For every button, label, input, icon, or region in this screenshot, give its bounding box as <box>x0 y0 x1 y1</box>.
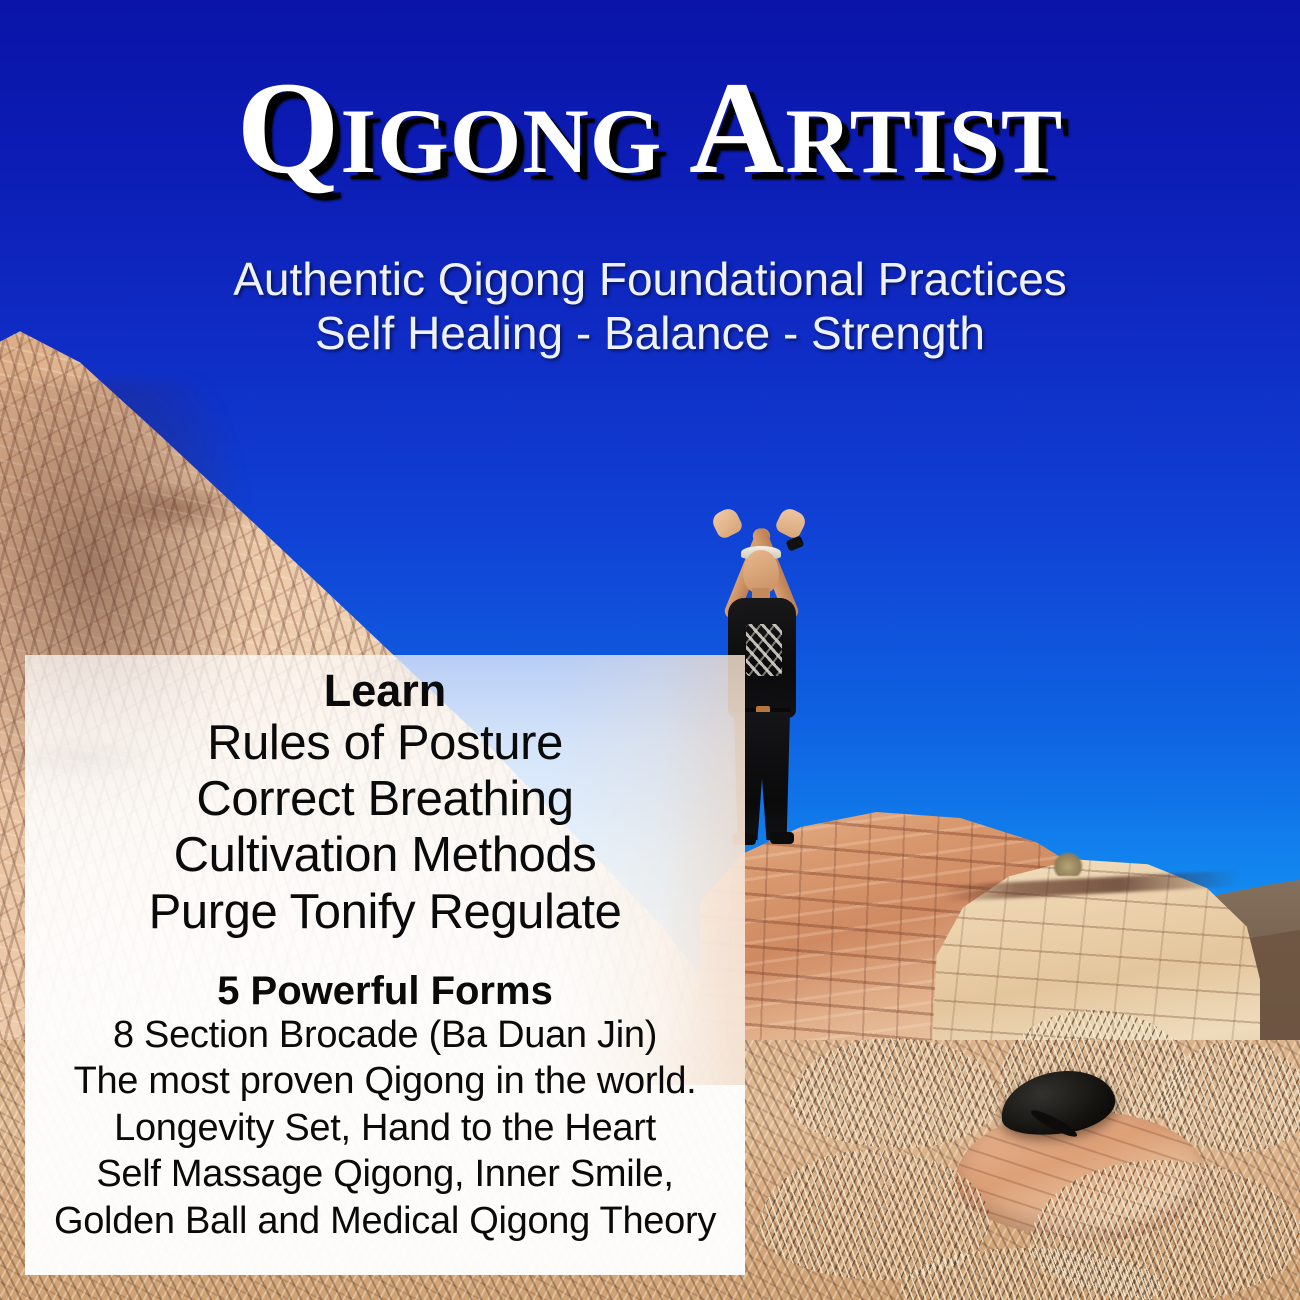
forms-item: Longevity Set, Hand to the Heart <box>25 1105 745 1151</box>
info-panel: Learn Rules of Posture Correct Breathing… <box>25 655 745 1275</box>
forms-item: 8 Section Brocade (Ba Duan Jin) <box>25 1012 745 1058</box>
forms-item: Golden Ball and Medical Qigong Theory <box>25 1198 745 1244</box>
learn-item: Cultivation Methods <box>25 827 745 883</box>
hilltop-bush <box>1053 852 1083 876</box>
person-hand-left <box>710 506 745 541</box>
person-hand-right <box>774 506 809 541</box>
learn-item: Purge Tonify Regulate <box>25 884 745 940</box>
subtitle-line-2: Self Healing - Balance - Strength <box>0 306 1300 360</box>
person-wristband <box>786 535 805 551</box>
person-shirt-print <box>746 624 782 676</box>
qigong-artist-poster: Qigong Artist Authentic Qigong Foundatio… <box>0 0 1300 1300</box>
forms-item: The most proven Qigong in the world. <box>25 1058 745 1104</box>
info-panel-content: Learn Rules of Posture Correct Breathing… <box>25 655 745 1244</box>
forms-item: Self Massage Qigong, Inner Smile, <box>25 1151 745 1197</box>
learn-item: Rules of Posture <box>25 715 745 771</box>
person-shoe-right <box>770 832 794 844</box>
learn-item: Correct Breathing <box>25 771 745 827</box>
page-title: Qigong Artist <box>0 62 1300 194</box>
learn-heading: Learn <box>25 667 745 715</box>
forms-heading: 5 Powerful Forms <box>25 970 745 1012</box>
subtitle-line-1: Authentic Qigong Foundational Practices <box>0 252 1300 306</box>
